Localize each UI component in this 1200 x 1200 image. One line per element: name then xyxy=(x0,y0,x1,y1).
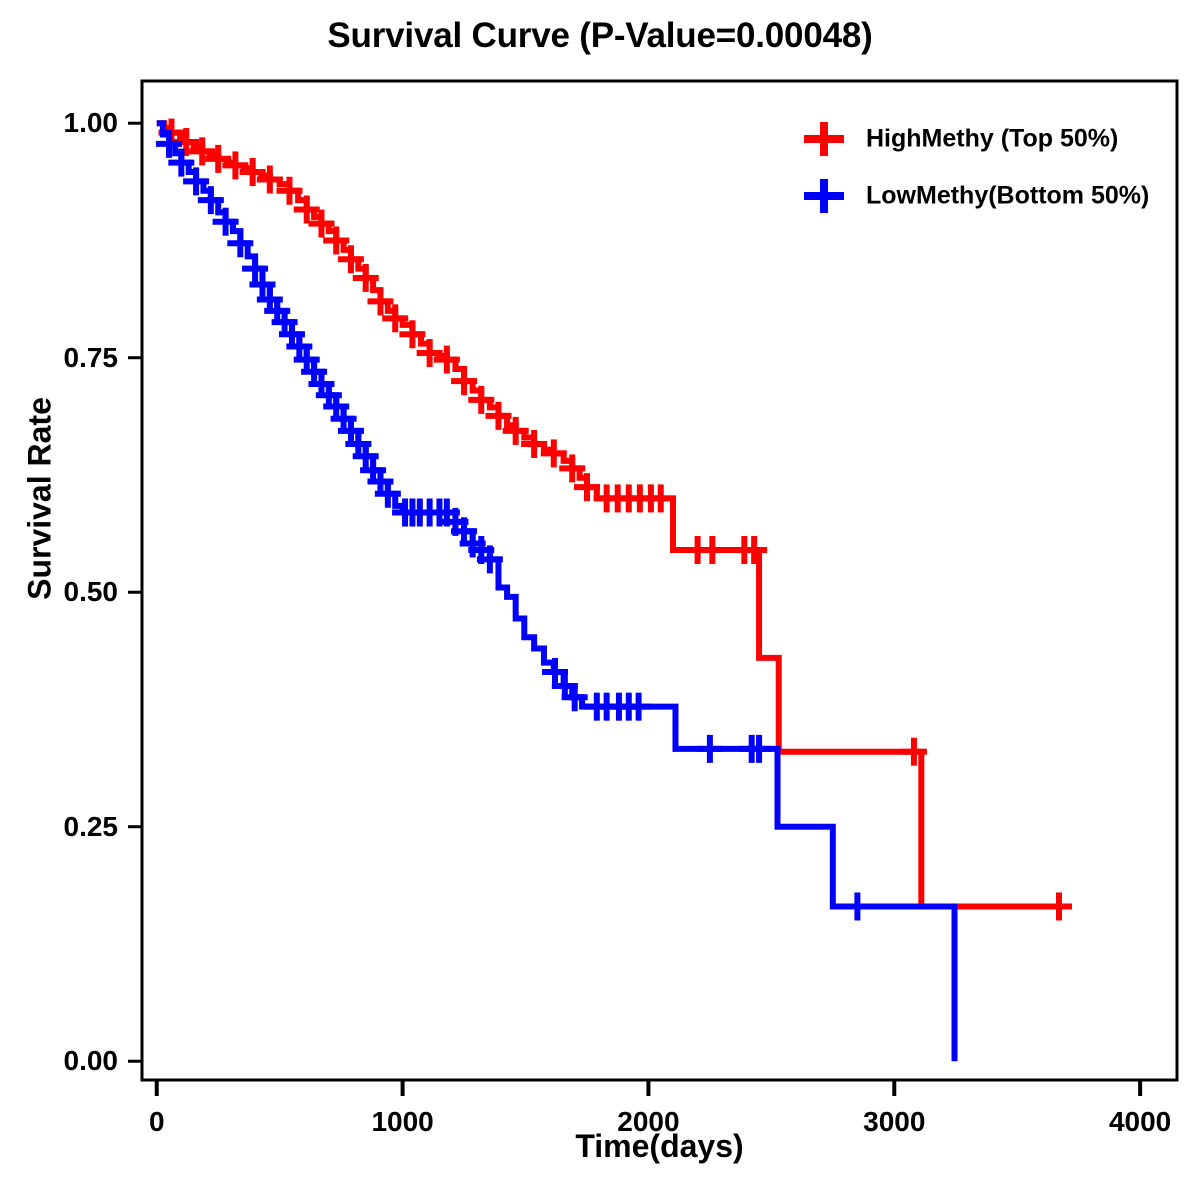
axes-border xyxy=(142,81,1177,1080)
plot-frame xyxy=(142,81,1177,1080)
series-low-methy xyxy=(156,123,954,1061)
series-layer xyxy=(156,119,1072,1062)
x-tick-label: 2000 xyxy=(617,1106,679,1138)
y-axis-ticks xyxy=(128,123,142,1061)
step-line xyxy=(157,123,955,1061)
legend-label-low-methy: LowMethy(Bottom 50%) xyxy=(866,182,1149,211)
x-tick-label: 3000 xyxy=(863,1106,925,1138)
legend-label-high-methy: HighMethy (Top 50%) xyxy=(866,125,1118,154)
x-tick-label: 1000 xyxy=(371,1106,433,1138)
y-tick-label: 0.75 xyxy=(0,342,118,374)
step-line xyxy=(157,123,1059,906)
y-tick-label: 0.50 xyxy=(0,576,118,608)
legend-markers xyxy=(804,122,844,213)
y-tick-label: 0.00 xyxy=(0,1045,118,1077)
plot-area xyxy=(0,0,1200,1200)
x-axis-ticks xyxy=(157,1080,1140,1096)
y-tick-label: 0.25 xyxy=(0,811,118,843)
x-tick-label: 4000 xyxy=(1109,1106,1171,1138)
censor-marks xyxy=(156,130,870,921)
survival-curve-figure: Survival Curve (P-Value=0.00048) Surviva… xyxy=(0,0,1200,1200)
legend-marker-low-methy xyxy=(804,179,844,213)
legend-marker-high-methy xyxy=(804,122,844,156)
x-tick-label: 0 xyxy=(149,1106,165,1138)
y-tick-label: 1.00 xyxy=(0,107,118,139)
censor-marks xyxy=(159,119,1072,921)
series-high-methy xyxy=(157,119,1072,921)
